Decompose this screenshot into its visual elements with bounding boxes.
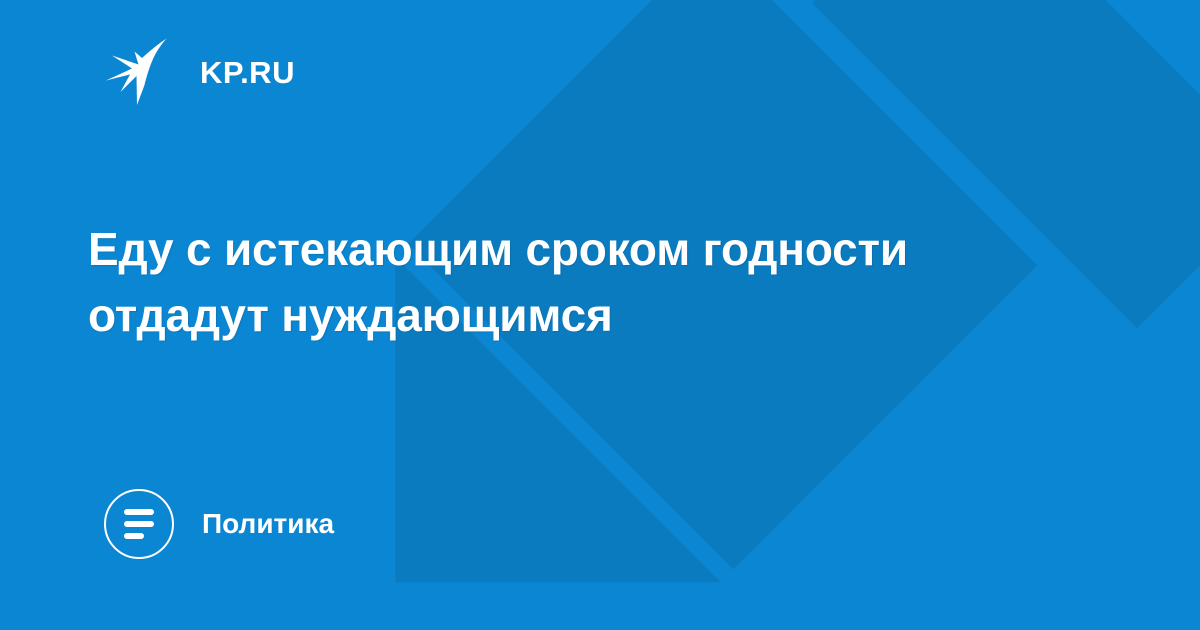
rubric-label[interactable]: Политика [202,510,334,538]
share-card: KP.RU Еду с истекающим сроком годности о… [0,0,1200,630]
list-lines-icon[interactable] [104,489,174,559]
swallow-bird-icon[interactable] [104,36,176,108]
brand-wordmark[interactable]: KP.RU [200,57,295,88]
site-header: KP.RU [104,36,295,108]
rubric-badge[interactable]: Политика [104,489,334,559]
list-line-3 [124,533,144,539]
headline-title: Еду с истекающим сроком годности отдадут… [88,216,1048,348]
list-line-2 [124,521,154,527]
list-line-1 [124,509,154,515]
